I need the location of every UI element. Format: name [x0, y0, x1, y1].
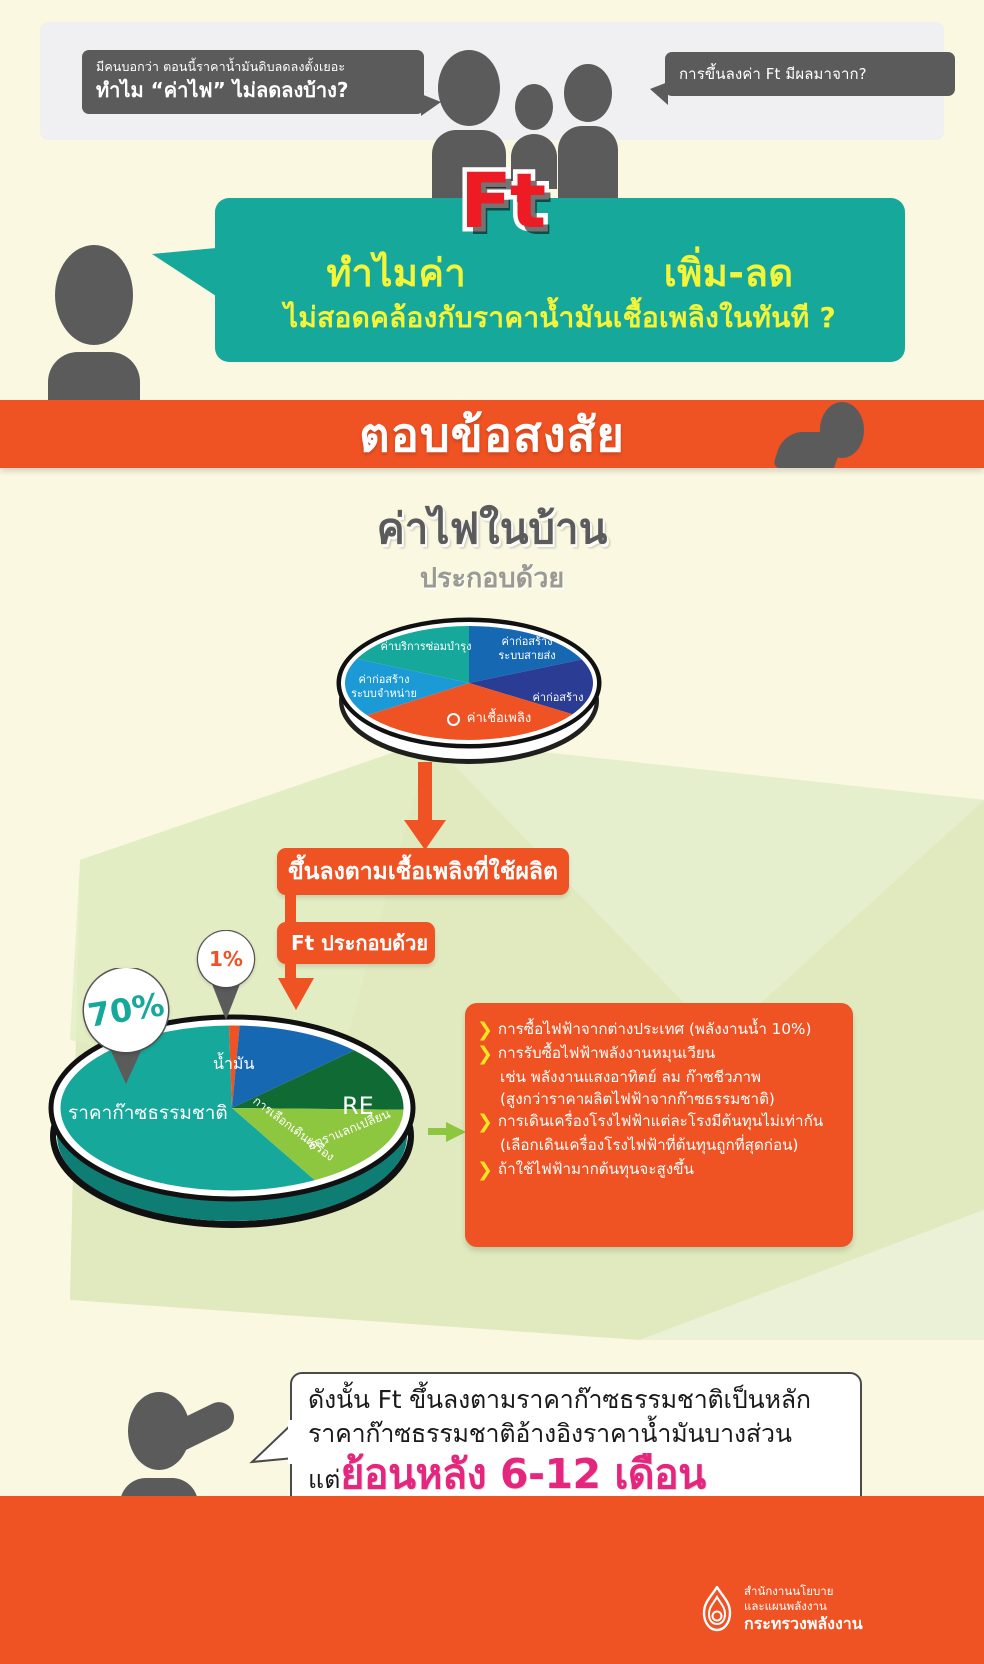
- headline-row-1: ทำไมค่า เพิ่ม-ลด: [215, 242, 905, 303]
- pie1-label-distribution: ค่าก่อสร้าง ระบบจำหน่าย: [338, 673, 430, 701]
- conclusion-emphasis: ย้อนหลัง 6-12 เดือน: [340, 1450, 705, 1499]
- conclusion-bubble-tail-icon: [248, 1418, 294, 1484]
- banner-title: ตอบข้อสงสัย: [0, 399, 984, 469]
- left-bubble-line2: ทำไม “ค่าไฟ” ไม่ลดลงบ้าง?: [96, 77, 410, 103]
- headline-before-ft: ทำไมค่า: [326, 251, 466, 295]
- conclusion-bubble: ดังนั้น Ft ขึ้นลงตามราคาก๊าซธรรมชาติเป็น…: [290, 1372, 862, 1507]
- footer-org-line1: สำนักงานนโยบาย: [744, 1584, 863, 1599]
- chevron-right-icon: ❯: [477, 1111, 493, 1134]
- list-item-subtext: เช่น พลังงานแสงอาทิตย์ ลม ก๊าซชีวภาพ: [500, 1067, 839, 1089]
- chevron-right-icon: ❯: [477, 1159, 493, 1182]
- speech-bubble-right: การขึ้นลงค่า Ft มีผลมาจาก?: [665, 52, 955, 96]
- flame-logo-icon: [700, 1586, 734, 1632]
- list-item: ❯ การซื้อไฟฟ้าจากต่างประเทศ (พลังงานน้ำ …: [477, 1019, 839, 1042]
- ft-logo: Ft: [460, 163, 544, 239]
- list-item-subtext: (สูงกว่าราคาผลิตไฟฟ้าจากก๊าซธรรมชาติ): [500, 1089, 839, 1111]
- footer-logo: สำนักงานนโยบาย และแผนพลังงาน กระทรวงพลัง…: [700, 1584, 863, 1634]
- flow-arrow-down-1: [400, 762, 450, 854]
- list-item-text: ถ้าใช้ไฟฟ้ามากต้นทุนจะสูงขึ้น: [498, 1159, 694, 1181]
- headline-bubble: ทำไมค่า เพิ่ม-ลด ไม่สอดคล้องกับราคาน้ำมั…: [215, 198, 905, 362]
- pie2-label-natural-gas: ราคาก๊าซธรรมชาติ: [68, 1098, 228, 1128]
- pie1-label-maintenance: ค่าบริการซ่อมบำรุง: [366, 640, 486, 654]
- person-icon-teen-body: [558, 126, 618, 198]
- person-icon-speaker-head: [55, 245, 133, 345]
- person-icon-teen-head: [564, 64, 612, 122]
- speech-bubble-left: มีคนบอกว่า ตอนนี้ราคาน้ำมันดิบลดลงตั้งเย…: [82, 50, 424, 114]
- footer-org-text: สำนักงานนโยบาย และแผนพลังงาน กระทรวงพลัง…: [744, 1584, 863, 1634]
- flow-box-ft-composition: Ft ประกอบด้วย: [277, 922, 435, 964]
- headline-after-ft: เพิ่ม-ลด: [664, 251, 794, 295]
- left-bubble-line1: มีคนบอกว่า ตอนนี้ราคาน้ำมันดิบลดลงตั้งเย…: [96, 59, 410, 76]
- person-icon-adult-head: [438, 50, 500, 126]
- right-bubble-line1: การขึ้นลงค่า Ft มีผลมาจาก?: [679, 64, 941, 84]
- bubble-tail-icon: [152, 248, 216, 296]
- ft-factors-list: ❯ การซื้อไฟฟ้าจากต่างประเทศ (พลังงานน้ำ …: [465, 1003, 853, 1247]
- chevron-right-icon: ❯: [477, 1043, 493, 1066]
- top-question-panel: มีคนบอกว่า ตอนนี้ราคาน้ำมันดิบลดลงตั้งเย…: [40, 22, 944, 140]
- conclusion-line-2: ราคาก๊าซธรรมชาติอ้างอิงราคาน้ำมันบางส่วน: [308, 1417, 844, 1451]
- bubble-tail-icon: [650, 82, 668, 105]
- list-item: ❯ การรับซื้อไฟฟ้าพลังงานหมุนเวียน: [477, 1043, 839, 1066]
- list-item-text: การเดินเครื่องโรงไฟฟ้าแต่ละโรงมีต้นทุนไม…: [498, 1111, 823, 1133]
- chevron-right-icon: ❯: [477, 1019, 493, 1042]
- pin-1-label: 1%: [198, 931, 254, 987]
- footer-ministry: กระทรวงพลังงาน: [744, 1614, 863, 1633]
- list-item-subtext: (เลือกเดินเครื่องโรงไฟฟ้าที่ต้นทุนถูกที่…: [500, 1135, 839, 1157]
- footer-bar: [0, 1496, 984, 1664]
- conclusion-line-1: ดังนั้น Ft ขึ้นลงตามราคาก๊าซธรรมชาติเป็น…: [308, 1383, 844, 1417]
- list-item: ❯ การเดินเครื่องโรงไฟฟ้าแต่ละโรงมีต้นทุน…: [477, 1111, 839, 1134]
- flow-box-fuel-dependency: ขึ้นลงตามเชื้อเพลิงที่ใช้ผลิต: [277, 848, 569, 895]
- green-arrow-icon: [428, 1118, 470, 1146]
- list-item-text: การซื้อไฟฟ้าจากต่างประเทศ (พลังงานน้ำ 10…: [498, 1019, 811, 1041]
- list-item: ❯ ถ้าใช้ไฟฟ้ามากต้นทุนจะสูงขึ้น: [477, 1159, 839, 1182]
- person-icon-child-head: [515, 84, 553, 130]
- pin-1-percent: 1%: [195, 930, 257, 1024]
- pin-70-percent: 70%: [78, 968, 174, 1088]
- pie1-label-transmission: ค่าก่อสร้าง ระบบสายส่ง: [482, 635, 572, 663]
- headline-row-2: ไม่สอดคล้องกับราคาน้ำมันเชื้อเพลิงในทันท…: [215, 296, 905, 340]
- conclusion-prefix: แต่: [308, 1465, 340, 1495]
- section-title: ค่าไฟในบ้าน: [0, 496, 984, 562]
- flow-connector-1: [285, 895, 296, 923]
- fuel-marker-icon: [447, 713, 460, 726]
- list-item-text: การรับซื้อไฟฟ้าพลังงานหมุนเวียน: [498, 1043, 715, 1065]
- conclusion-line-3: แต่ ย้อนหลัง 6-12 เดือน: [308, 1450, 844, 1499]
- pie1-label-fuel: ค่าเชื้อเพลิง: [414, 711, 564, 727]
- pie2-label-oil: น้ำมัน: [213, 1052, 254, 1077]
- pie-chart-bill-composition: ค่าบริการซ่อมบำรุง ค่าก่อสร้าง ระบบสายส่…: [330, 615, 608, 765]
- pie1-label-construction: ค่าก่อสร้าง: [518, 691, 598, 705]
- section-subtitle: ประกอบด้วย: [0, 556, 984, 599]
- footer-org-line2: และแผนพลังงาน: [744, 1599, 863, 1614]
